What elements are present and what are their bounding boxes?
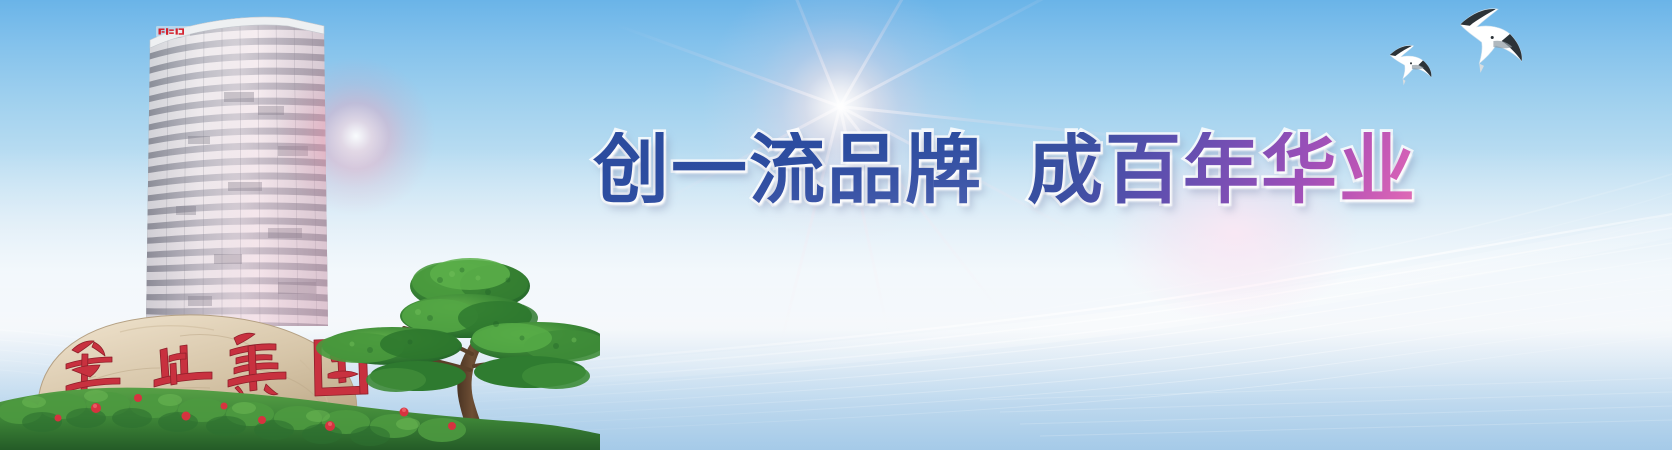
- slogan-part-two: 成百年华业: [1027, 132, 1417, 208]
- seagull-icon: [1460, 9, 1522, 73]
- sun-ray-icon: [760, 0, 841, 107]
- slogan-text: 创一流品牌 成百年华业: [593, 132, 1417, 208]
- building-sign: [156, 26, 190, 37]
- sun-ray-icon: [839, 0, 977, 107]
- hero-banner: 创一流品牌 成百年华业 创一流品牌 成百年华业: [0, 0, 1672, 450]
- sun-ray-icon: [839, 0, 1105, 108]
- monument-scene: [0, 220, 600, 450]
- seagulls-group: [1370, 6, 1570, 116]
- sun-ray-icon: [614, 23, 841, 108]
- slogan-part-one: 创一流品牌: [593, 132, 983, 208]
- seagull-icon: [1390, 45, 1432, 85]
